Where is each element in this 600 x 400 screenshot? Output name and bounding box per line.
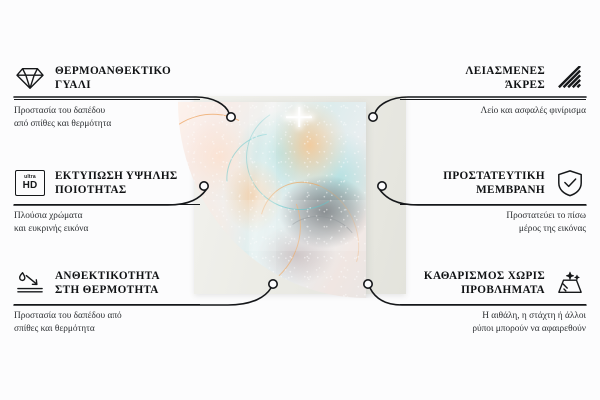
diamond-icon <box>14 63 46 93</box>
sparkle-clean-icon <box>554 268 586 298</box>
feature-heat-durability: ΑΝΘΕΚΤΙΚΟΤΗΤΑ ΣΤΗ ΘΕΡΜΟΤΗΤΑ Προστασία το… <box>14 266 200 336</box>
feature-title-line: ΛΕΙΑΣΜΕΝΕΣ <box>465 64 545 78</box>
feature-description: Προστασία του δαπέδου από σπίθες και θερ… <box>14 105 200 131</box>
feature-high-quality-print: ultra HD ΕΚΤΥΠΩΣΗ ΥΨΗΛΗΣ ΠΟΙΟΤΗΤΑΣ Πλούσ… <box>14 166 200 236</box>
feature-divider <box>400 204 586 205</box>
feature-divider <box>400 99 586 100</box>
feature-header: ΚΑΘΑΡΙΣΜΟΣ ΧΩΡΙΣ ΠΡΟΒΛΗΜΑΤΑ <box>400 266 586 300</box>
feature-title-line: ΑΝΘΕΚΤΙΚΟΤΗΤΑ <box>55 269 160 283</box>
flame-deflect-icon <box>14 268 46 298</box>
feature-polished-edges: ΛΕΙΑΣΜΕΝΕΣ ΆΚΡΕΣ Λείο και ασφαλές φινίρι… <box>400 61 586 118</box>
feature-title-line: ΚΑΘΑΡΙΣΜΟΣ ΧΩΡΙΣ <box>424 269 545 283</box>
feature-divider <box>14 204 200 205</box>
feature-description-line: και ευκρινής εικόνα <box>14 223 200 236</box>
ultra-hd-badge-bottom: HD <box>23 181 38 191</box>
feature-title-line: ΆΚΡΕΣ <box>465 78 545 92</box>
feature-description-line: Πλούσια χρώματα <box>14 210 200 223</box>
feature-divider <box>14 304 200 305</box>
feature-easy-cleaning: ΚΑΘΑΡΙΣΜΟΣ ΧΩΡΙΣ ΠΡΟΒΛΗΜΑΤΑ Η αιθάλη, η … <box>400 266 586 336</box>
feature-title-line: ΕΚΤΥΠΩΣΗ ΥΨΗΛΗΣ <box>55 169 178 183</box>
feature-description-line: από σπίθες και θερμότητα <box>14 118 200 131</box>
feature-description-line: Η αιθάλη, η στάχτη ή άλλοι <box>400 310 586 323</box>
feature-title: ΕΚΤΥΠΩΣΗ ΥΨΗΛΗΣ ΠΟΙΟΤΗΤΑΣ <box>55 169 178 197</box>
feature-title-line: ΠΟΙΟΤΗΤΑΣ <box>55 183 178 197</box>
feature-title: ΘΕΡΜΟΑΝΘΕΚΤΙΚΟ ΓΥΑΛΙ <box>55 64 171 92</box>
feature-title-line: ΓΥΑΛΙ <box>55 78 171 92</box>
feature-description-line: ρύποι μπορούν να αφαιρεθούν <box>400 323 586 336</box>
feature-description: Προστασία του δαπέδου από σπίθες και θερ… <box>14 310 200 336</box>
feature-header: ultra HD ΕΚΤΥΠΩΣΗ ΥΨΗΛΗΣ ΠΟΙΟΤΗΤΑΣ <box>14 166 200 200</box>
feature-description-line: Προστασία του δαπέδου <box>14 105 200 118</box>
ultra-hd-badge: ultra HD <box>15 170 45 196</box>
feature-description: Η αιθάλη, η στάχτη ή άλλοι ρύποι μπορούν… <box>400 310 586 336</box>
feature-description: Πλούσια χρώματα και ευκρινής εικόνα <box>14 210 200 236</box>
feature-title-line: ΜΕΜΒΡΑΝΗ <box>443 183 545 197</box>
feature-divider <box>400 304 586 305</box>
feature-description-line: μέρος της εικόνας <box>400 223 586 236</box>
feature-title-line: ΠΡΟΒΛΗΜΑΤΑ <box>424 283 545 297</box>
shield-check-icon <box>554 168 586 198</box>
feature-header: ΠΡΟΣΤΑΤΕΥΤΙΚΗ ΜΕΜΒΡΑΝΗ <box>400 166 586 200</box>
feature-description-line: Λείο και ασφαλές φινίρισμα <box>400 105 586 118</box>
feature-title-line: ΣΤΗ ΘΕΡΜΟΤΗΤΑ <box>55 283 160 297</box>
ultra-hd-icon: ultra HD <box>14 168 46 198</box>
feature-description-line: σπίθες και θερμότητα <box>14 323 200 336</box>
product-image <box>178 96 422 312</box>
feature-description-line: Προστατεύει το πίσω <box>400 210 586 223</box>
feature-title: ΑΝΘΕΚΤΙΚΟΤΗΤΑ ΣΤΗ ΘΕΡΜΟΤΗΤΑ <box>55 269 160 297</box>
feature-header: ΛΕΙΑΣΜΕΝΕΣ ΆΚΡΕΣ <box>400 61 586 95</box>
feature-title: ΚΑΘΑΡΙΣΜΟΣ ΧΩΡΙΣ ΠΡΟΒΛΗΜΑΤΑ <box>424 269 545 297</box>
feature-title-line: ΘΕΡΜΟΑΝΘΕΚΤΙΚΟ <box>55 64 171 78</box>
product-feature-infographic: ΘΕΡΜΟΑΝΘΕΚΤΙΚΟ ΓΥΑΛΙ Προστασία του δαπέδ… <box>0 0 600 400</box>
feature-description: Προστατεύει το πίσω μέρος της εικόνας <box>400 210 586 236</box>
feature-heat-resistant-glass: ΘΕΡΜΟΑΝΘΕΚΤΙΚΟ ΓΥΑΛΙ Προστασία του δαπέδ… <box>14 61 200 131</box>
feature-header: ΑΝΘΕΚΤΙΚΟΤΗΤΑ ΣΤΗ ΘΕΡΜΟΤΗΤΑ <box>14 266 200 300</box>
feature-description: Λείο και ασφαλές φινίρισμα <box>400 105 586 118</box>
feature-protective-membrane: ΠΡΟΣΤΑΤΕΥΤΙΚΗ ΜΕΜΒΡΑΝΗ Προστατεύει το πί… <box>400 166 586 236</box>
feature-divider <box>14 99 200 100</box>
feature-description-line: Προστασία του δαπέδου από <box>14 310 200 323</box>
feature-title: ΛΕΙΑΣΜΕΝΕΣ ΆΚΡΕΣ <box>465 64 545 92</box>
feature-title-line: ΠΡΟΣΤΑΤΕΥΤΙΚΗ <box>443 169 545 183</box>
feature-header: ΘΕΡΜΟΑΝΘΕΚΤΙΚΟ ΓΥΑΛΙ <box>14 61 200 95</box>
diagonal-stripes-icon <box>554 63 586 93</box>
feature-title: ΠΡΟΣΤΑΤΕΥΤΙΚΗ ΜΕΜΒΡΑΝΗ <box>443 169 545 197</box>
